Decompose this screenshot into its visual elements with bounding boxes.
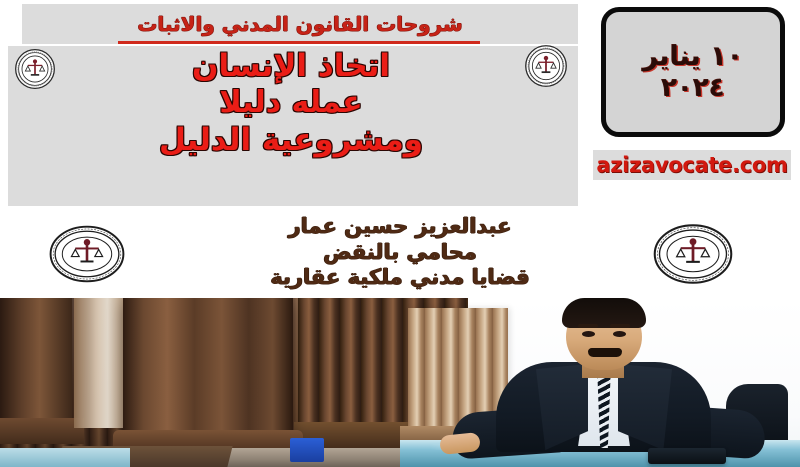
smartphone-on-desk <box>648 448 726 464</box>
banner-strip: شروحات القانون المدني والاثبات <box>22 4 578 44</box>
column-left-base <box>0 418 84 444</box>
blue-object <box>290 438 324 462</box>
lawyer-credentials: عبدالعزيز حسين عمار محامي بالنقض قضايا م… <box>150 214 650 291</box>
colonnade-light-gap <box>74 298 128 428</box>
portrait-mustache <box>588 348 622 357</box>
lawyer-name: عبدالعزيز حسين عمار <box>150 214 650 240</box>
bar-association-emblem-icon <box>14 48 56 90</box>
hero-photo <box>0 298 800 467</box>
portrait-eye-left <box>582 331 595 337</box>
date-year: ٢٠٢٤ <box>661 74 724 103</box>
portrait-hair <box>562 298 646 328</box>
title-line-1: اتخاذ الإنسان <box>60 50 522 83</box>
column-left <box>0 298 72 426</box>
desk-surface-left <box>0 448 130 467</box>
portrait-eye-right <box>613 331 626 337</box>
title-line-2: عمله دليلا <box>60 87 522 119</box>
scales-of-justice-emblem-icon <box>48 224 126 284</box>
banner-underline <box>118 41 480 44</box>
poster-canvas: شروحات القانون المدني والاثبات <box>0 0 800 467</box>
date-badge: ١٠ يناير ٢٠٢٤ <box>601 7 785 137</box>
lawyer-specialty: قضايا مدني ملكية عقارية <box>150 265 650 291</box>
date-day-month: ١٠ يناير <box>643 42 744 72</box>
column-foreground <box>123 298 293 438</box>
banner-headline: شروحات القانون المدني والاثبات <box>137 14 462 34</box>
portrait-brow-left <box>578 324 598 328</box>
main-title: اتخاذ الإنسان عمله دليلا ومشروعية الدليل <box>60 48 522 157</box>
website-badge[interactable]: azizavocate.com <box>593 150 791 180</box>
website-url: azizavocate.com <box>596 153 787 177</box>
bar-association-emblem-icon <box>524 44 568 88</box>
portrait-brow-right <box>610 324 630 328</box>
lawyer-role: محامي بالنقض <box>150 240 650 266</box>
title-line-3: ومشروعية الدليل <box>60 124 522 157</box>
scales-of-justice-emblem-icon <box>652 222 734 286</box>
